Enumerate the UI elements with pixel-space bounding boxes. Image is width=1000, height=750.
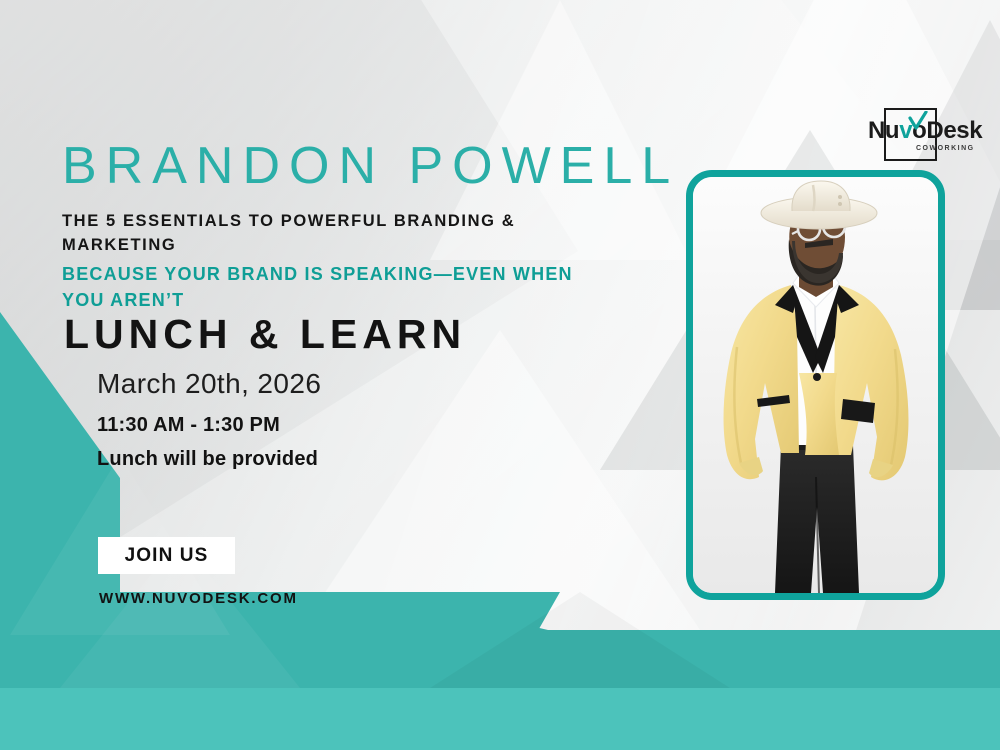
speaker-portrait bbox=[693, 177, 938, 593]
checkmark-icon bbox=[908, 111, 928, 131]
logo-word-part1: Nu bbox=[868, 117, 899, 144]
speaker-photo-frame bbox=[686, 170, 945, 600]
speaker-name: BRANDON POWELL bbox=[62, 140, 679, 192]
website-link[interactable]: WWW.NUVODESK.COM bbox=[99, 590, 298, 607]
talk-tagline: BECAUSE YOUR BRAND IS SPEAKING—EVEN WHEN… bbox=[62, 262, 607, 313]
event-date: March 20th, 2026 bbox=[97, 368, 321, 400]
event-time: 11:30 AM - 1:30 PM bbox=[97, 414, 280, 437]
event-note: Lunch will be provided bbox=[97, 448, 318, 471]
talk-title: THE 5 ESSENTIALS TO POWERFUL BRANDING & … bbox=[62, 210, 592, 258]
speaker-photo bbox=[693, 177, 938, 593]
flyer-content: BRANDON POWELL THE 5 ESSENTIALS TO POWER… bbox=[0, 0, 1000, 750]
join-us-button[interactable]: JOIN US bbox=[98, 537, 235, 574]
nuvodesk-logo[interactable]: NuvoDesk COWORKING bbox=[868, 105, 986, 167]
event-flyer: BRANDON POWELL THE 5 ESSENTIALS TO POWER… bbox=[0, 0, 1000, 750]
logo-tagline: COWORKING bbox=[916, 145, 975, 152]
event-type-heading: LUNCH & LEARN bbox=[64, 312, 466, 357]
